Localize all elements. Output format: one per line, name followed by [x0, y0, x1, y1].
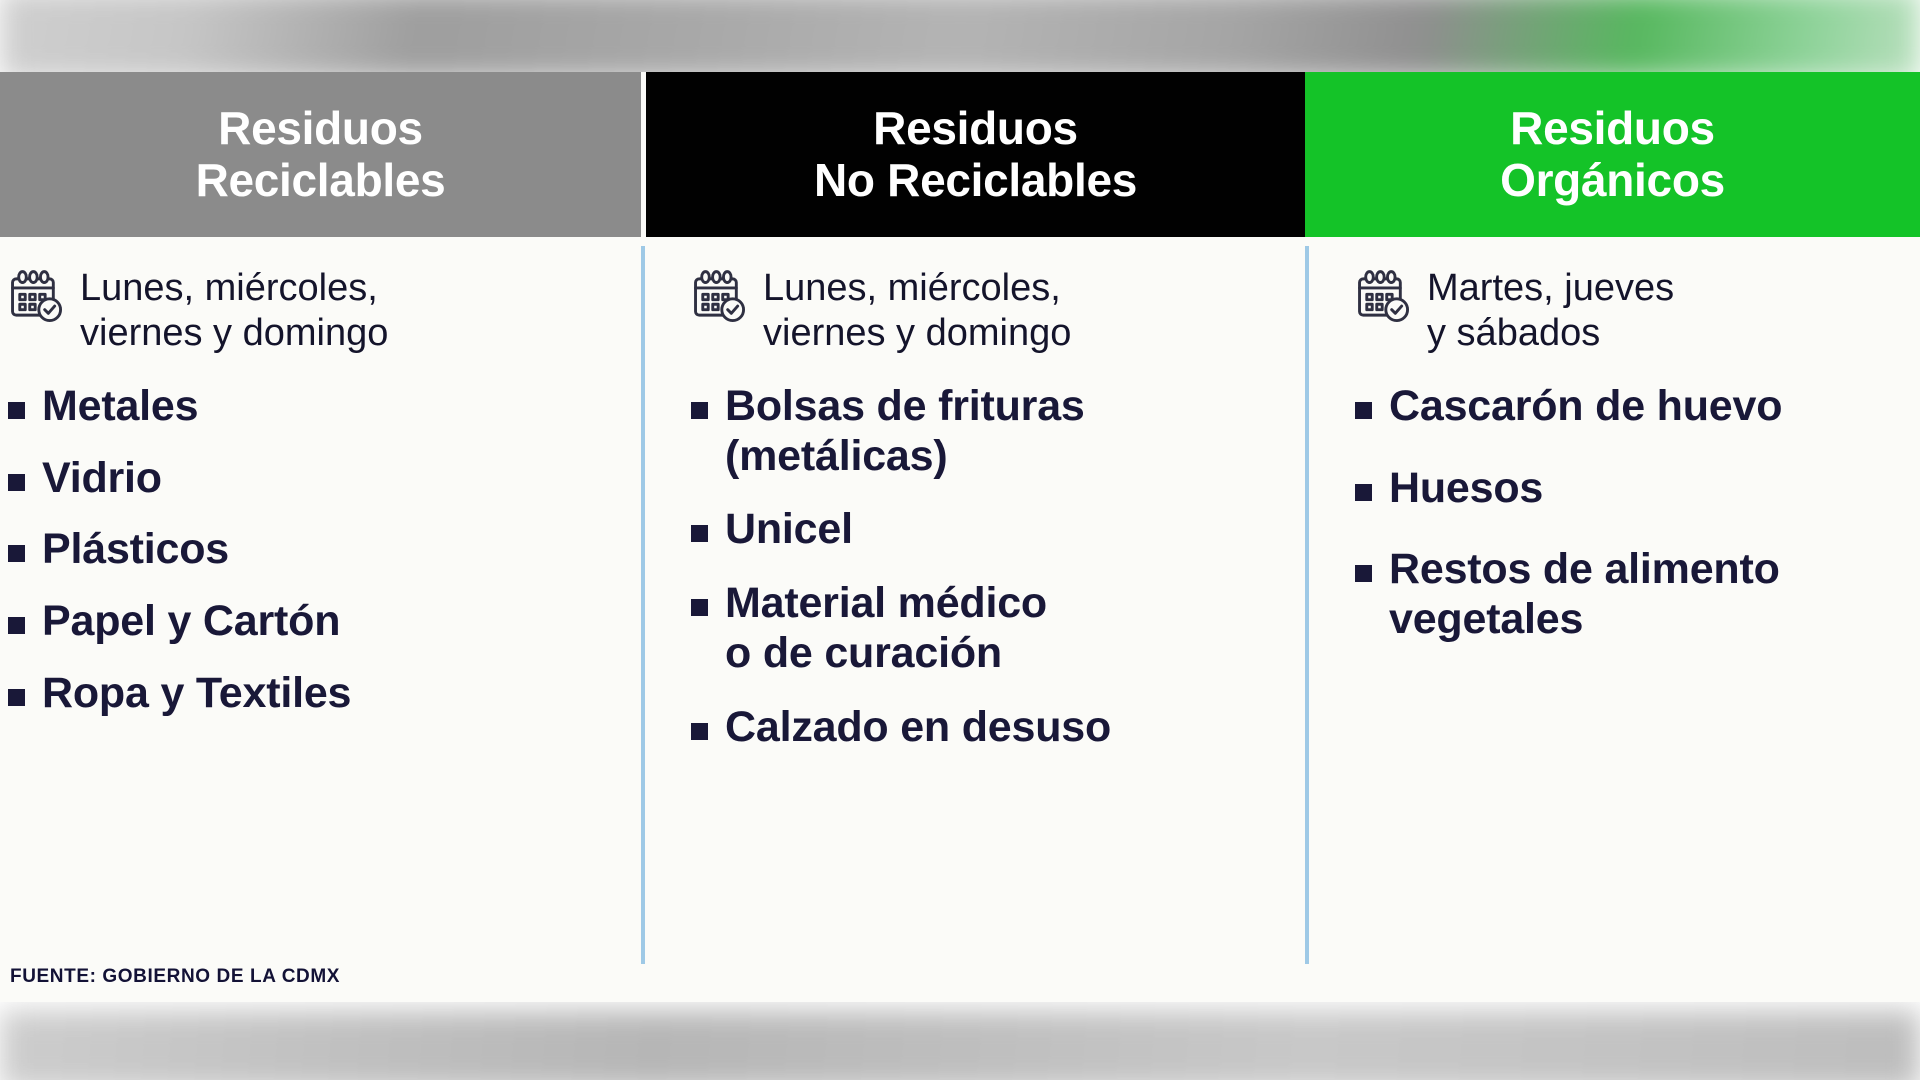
calendar-check-icon: [691, 268, 749, 326]
list-item-label: Huesos: [1389, 464, 1543, 514]
body-row: Lunes, miércoles, viernes y domingo Meta…: [0, 240, 1920, 1002]
column-divider: [641, 246, 645, 964]
header-line-2: No Reciclables: [814, 155, 1137, 207]
list-item-label: Restos de alimento vegetales: [1389, 545, 1780, 645]
list-item-label: Metales: [42, 382, 198, 432]
square-bullet-icon: [691, 402, 708, 419]
square-bullet-icon: [8, 402, 25, 419]
column-header-no-reciclables: Residuos No Reciclables: [646, 72, 1305, 237]
schedule-days-text: Lunes, miércoles, viernes y domingo: [80, 264, 388, 356]
waste-list-organicos: Cascarón de huevo Huesos Restos de alime…: [1355, 382, 1910, 646]
list-item: Cascarón de huevo: [1355, 382, 1910, 432]
square-bullet-icon: [691, 599, 708, 616]
list-item: Calzado en desuso: [691, 703, 1285, 753]
list-item: Unicel: [691, 505, 1285, 555]
schedule-days-text: Martes, jueves y sábados: [1427, 264, 1674, 356]
schedule-panel: Residuos Reciclables Residuos No Recicla…: [0, 72, 1920, 1002]
header-line-1: Residuos: [873, 103, 1078, 155]
column-body-organicos: Martes, jueves y sábados Cascarón de hue…: [1305, 240, 1920, 1002]
column-divider: [1305, 246, 1309, 964]
list-item-label: Calzado en desuso: [725, 703, 1111, 753]
square-bullet-icon: [8, 617, 25, 634]
calendar-check-icon: [8, 268, 66, 326]
schedule-no-reciclables: Lunes, miércoles, viernes y domingo: [691, 264, 1285, 356]
list-item-label: Plásticos: [42, 525, 229, 575]
infographic-root: Residuos Reciclables Residuos No Recicla…: [0, 0, 1920, 1080]
list-item-label: Ropa y Textiles: [42, 669, 351, 719]
list-item: Metales: [8, 382, 621, 432]
list-item-label: Papel y Cartón: [42, 597, 340, 647]
list-item: Plásticos: [8, 525, 621, 575]
list-item: Material médico o de curación: [691, 579, 1285, 679]
list-item-label: Bolsas de frituras (metálicas): [725, 382, 1085, 482]
list-item-label: Cascarón de huevo: [1389, 382, 1782, 432]
square-bullet-icon: [1355, 565, 1372, 582]
column-header-organicos: Residuos Orgánicos: [1305, 72, 1920, 237]
square-bullet-icon: [1355, 402, 1372, 419]
schedule-reciclables: Lunes, miércoles, viernes y domingo: [8, 264, 621, 356]
source-note: FUENTE: GOBIERNO DE LA CDMX: [10, 966, 340, 988]
list-item: Huesos: [1355, 464, 1910, 514]
header-line-2: Orgánicos: [1500, 155, 1725, 207]
list-item: Bolsas de frituras (metálicas): [691, 382, 1285, 482]
bottom-gradient-bar: [0, 1010, 1920, 1080]
list-item: Vidrio: [8, 454, 621, 504]
list-item: Ropa y Textiles: [8, 669, 621, 719]
column-header-reciclables: Residuos Reciclables: [0, 72, 641, 237]
header-line-2: Reciclables: [196, 155, 446, 207]
schedule-organicos: Martes, jueves y sábados: [1355, 264, 1910, 356]
square-bullet-icon: [8, 545, 25, 562]
waste-list-reciclables: Metales Vidrio Plásticos Papel y Cartón: [8, 382, 621, 719]
top-gradient-bar: [0, 0, 1920, 80]
list-item-label: Material médico o de curación: [725, 579, 1047, 679]
header-line-1: Residuos: [218, 103, 423, 155]
waste-list-no-reciclables: Bolsas de frituras (metálicas) Unicel Ma…: [691, 382, 1285, 753]
list-item-label: Unicel: [725, 505, 853, 555]
header-line-1: Residuos: [1510, 103, 1715, 155]
column-body-reciclables: Lunes, miércoles, viernes y domingo Meta…: [0, 240, 641, 1002]
column-body-no-reciclables: Lunes, miércoles, viernes y domingo Bols…: [641, 240, 1305, 1002]
calendar-check-icon: [1355, 268, 1413, 326]
list-item: Papel y Cartón: [8, 597, 621, 647]
square-bullet-icon: [8, 474, 25, 491]
square-bullet-icon: [691, 525, 708, 542]
list-item: Restos de alimento vegetales: [1355, 545, 1910, 645]
square-bullet-icon: [691, 723, 708, 740]
square-bullet-icon: [8, 689, 25, 706]
square-bullet-icon: [1355, 484, 1372, 501]
list-item-label: Vidrio: [42, 454, 162, 504]
header-row: Residuos Reciclables Residuos No Recicla…: [0, 72, 1920, 237]
schedule-days-text: Lunes, miércoles, viernes y domingo: [763, 264, 1071, 356]
